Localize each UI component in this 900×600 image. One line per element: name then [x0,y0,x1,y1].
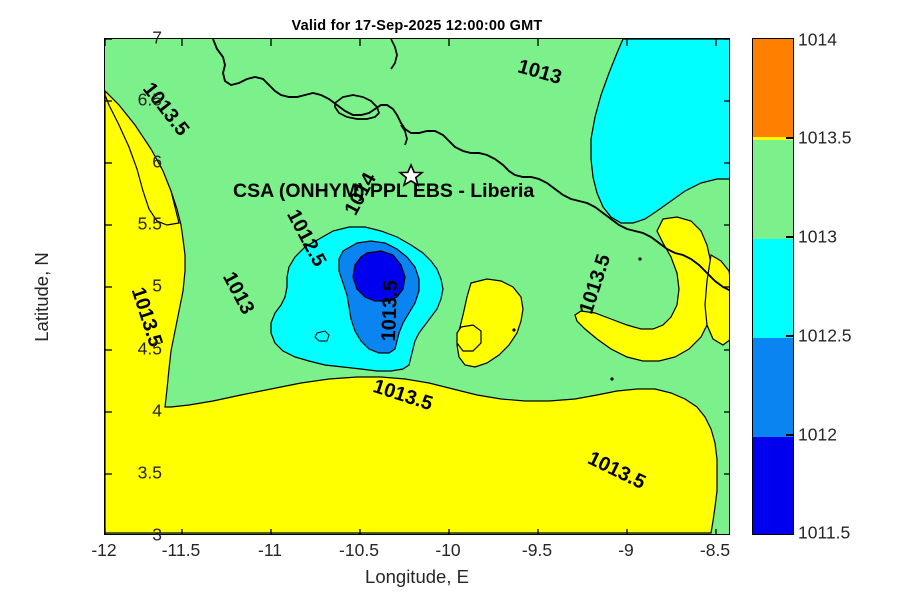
y-tick-label: 4 [152,401,162,422]
colorbar-tick [786,335,793,337]
colorbar-tick-label: 1011.5 [798,523,850,544]
region-1013p5-lobe-notch [457,325,481,351]
x-tick-label: -9.5 [522,540,552,561]
colorbar-tick [786,236,793,238]
x-axis-label: Longitude, E [104,566,730,588]
colorbar-tick [786,137,793,139]
contour-canvas: CSA (ONHYM) PPL EBS - Liberia 1013.5 101… [105,39,730,535]
y-tick-label: 6.5 [138,90,162,111]
colorbar-band-cyan [752,239,794,338]
colorbar-tick-label: 1013.5 [798,128,852,149]
y-tick-label: 5.5 [138,214,162,235]
colorbar-band-blue [752,338,794,437]
colorbar-tick [786,434,793,436]
y-tick-label: 5 [152,276,162,297]
x-tick-label: -9 [618,540,634,561]
colorbar-band-orange [752,38,794,137]
site-annotation: CSA (ONHYM) PPL EBS - Liberia [233,180,534,202]
y-tick-label: 3.5 [138,463,162,484]
region-low-hole [315,331,329,341]
x-tick-label: -11.5 [162,540,201,561]
x-tick-label: -10.5 [339,540,379,561]
map-dot-1 [512,328,515,331]
figure-title: Valid for 17-Sep-2025 12:00:00 GMT [104,18,730,34]
figure: Valid for 17-Sep-2025 12:00:00 GMT [0,0,900,600]
colorbar-tick-label: 1013 [798,227,837,248]
colorbar-tick-label: 1014 [798,30,837,51]
y-axis-label: Latitude, N [31,197,53,397]
contour-label: 1013.5 [378,280,402,342]
colorbar-band-lowest [752,437,794,535]
x-tick-label: -8.5 [700,540,730,561]
y-tick-label: 7 [152,28,162,49]
colorbar-band-green [752,140,794,239]
map-dot-3 [610,377,613,380]
x-tick-label: -12 [91,540,116,561]
x-tick-label: -11 [258,540,282,561]
colorbar-tick-label: 1012.5 [798,326,852,347]
map-dot-2 [638,257,641,260]
colorbar-tick-label: 1012 [798,425,837,446]
y-tick-label: 6 [152,152,162,173]
y-tick-label: 4.5 [138,339,162,360]
contour-plot: CSA (ONHYM) PPL EBS - Liberia 1013.5 101… [104,38,730,535]
y-tick-label: 3 [152,525,162,546]
x-tick-label: -10 [435,540,460,561]
